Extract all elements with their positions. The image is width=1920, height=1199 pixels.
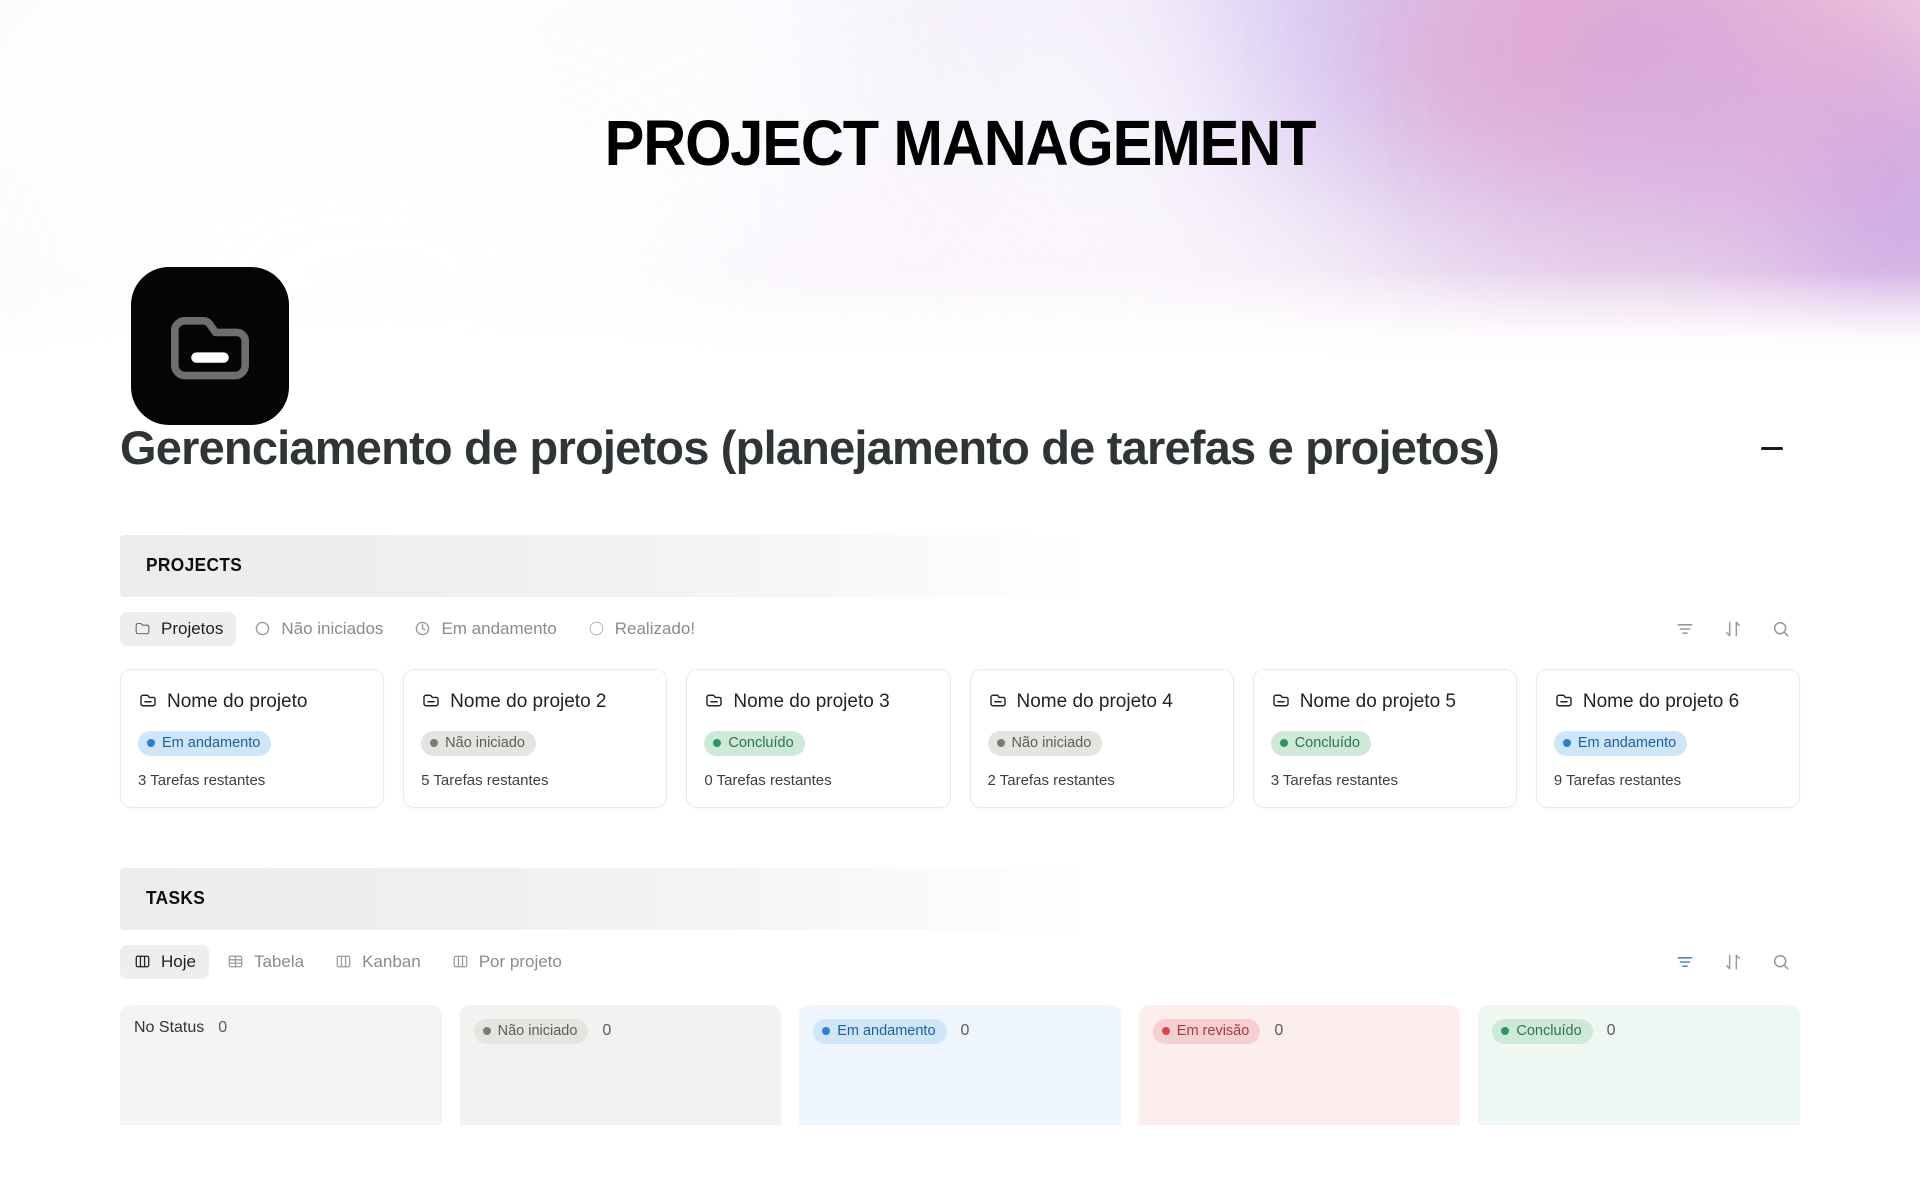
project-card-title: Nome do projeto 5: [1300, 691, 1456, 713]
tab-nao-iniciados[interactable]: Não iniciados: [240, 612, 396, 646]
sort-icon[interactable]: [1722, 951, 1744, 973]
kanban-column-label: Concluído: [1516, 1023, 1581, 1039]
status-dot: [483, 1027, 491, 1035]
project-card[interactable]: Nome do projeto 5Concluído3 Tarefas rest…: [1253, 669, 1517, 808]
kanban-column-label: Não iniciado: [498, 1023, 578, 1039]
status-badge: Não iniciado: [474, 1019, 589, 1044]
project-card-meta: 3 Tarefas restantes: [138, 772, 366, 789]
folder-minus-icon: [421, 690, 441, 715]
table-icon: [226, 952, 245, 971]
tab-label: Em andamento: [441, 619, 556, 639]
kanban-column-head: Concluído0: [1492, 1019, 1786, 1044]
page-title: Gerenciamento de projetos (planejamento …: [120, 422, 1499, 475]
kanban-column-head: Não iniciado0: [474, 1019, 768, 1044]
tab-tabela[interactable]: Tabela: [213, 945, 317, 979]
project-card-head: Nome do projeto: [138, 690, 366, 715]
project-card-title: Nome do projeto 3: [733, 691, 889, 713]
project-card-meta: 0 Tarefas restantes: [704, 772, 932, 789]
tasks-section-label: TASKS: [146, 888, 205, 909]
kanban-column-head: No Status0: [134, 1019, 428, 1037]
kanban-column[interactable]: Em revisão0: [1139, 1005, 1461, 1125]
sort-icon[interactable]: [1722, 618, 1744, 640]
status-dot: [1563, 739, 1571, 747]
tab-label: Kanban: [362, 952, 421, 972]
status-label: Concluído: [728, 735, 793, 751]
project-card-meta: 2 Tarefas restantes: [988, 772, 1216, 789]
status-dot: [1280, 739, 1288, 747]
board-icon: [334, 952, 353, 971]
folder-minus-icon: [1271, 690, 1291, 715]
clock-icon: [413, 619, 432, 638]
project-card[interactable]: Nome do projeto 6Em andamento9 Tarefas r…: [1536, 669, 1800, 808]
page-icon[interactable]: [131, 267, 289, 425]
project-card-head: Nome do projeto 3: [704, 690, 932, 715]
tasks-tabs-row: Hoje Tabela: [120, 939, 1800, 985]
status-dot: [1162, 1027, 1170, 1035]
circle-icon: [253, 619, 272, 638]
project-card-title: Nome do projeto: [167, 691, 307, 713]
status-dot: [713, 739, 721, 747]
project-card[interactable]: Nome do projeto 3Concluído0 Tarefas rest…: [686, 669, 950, 808]
minimize-icon[interactable]: [1758, 434, 1786, 462]
status-dot: [997, 739, 1005, 747]
status-badge: Em andamento: [1554, 731, 1687, 756]
project-card-title: Nome do projeto 6: [1583, 691, 1739, 713]
projects-section-banner: PROJECTS: [120, 535, 1800, 597]
tab-realizado[interactable]: Realizado!: [574, 612, 708, 646]
project-cards: Nome do projetoEm andamento3 Tarefas res…: [120, 669, 1800, 808]
status-label: Não iniciado: [1012, 735, 1092, 751]
tasks-section: TASKS Hoje: [120, 868, 1800, 1125]
check-circle-icon: [587, 619, 606, 638]
project-card-meta: 3 Tarefas restantes: [1271, 772, 1499, 789]
filter-icon[interactable]: [1674, 618, 1696, 640]
search-icon[interactable]: [1770, 951, 1792, 973]
status-badge: Não iniciado: [421, 731, 536, 756]
project-card-meta: 9 Tarefas restantes: [1554, 772, 1782, 789]
projects-section: PROJECTS Projetos: [120, 535, 1800, 808]
board-icon: [451, 952, 470, 971]
projects-toolbar: [1674, 618, 1800, 640]
status-dot: [1501, 1027, 1509, 1035]
kanban-column-label: No Status: [134, 1019, 204, 1037]
status-badge: Em andamento: [138, 731, 271, 756]
kanban-column[interactable]: Concluído0: [1478, 1005, 1800, 1125]
folder-minus-icon: [138, 690, 158, 715]
project-card-title: Nome do projeto 2: [450, 691, 606, 713]
kanban-column-head: Em andamento0: [813, 1019, 1107, 1044]
folder-minus-icon: [704, 690, 724, 715]
kanban-column-label: Em andamento: [837, 1023, 935, 1039]
status-badge: Em andamento: [813, 1019, 946, 1044]
tab-projetos[interactable]: Projetos: [120, 612, 236, 646]
tab-label: Não iniciados: [281, 619, 383, 639]
status-badge: Em revisão: [1153, 1019, 1261, 1044]
kanban-column-count: 0: [961, 1022, 970, 1040]
projects-tabs-row: Projetos Não iniciados: [120, 606, 1800, 652]
tasks-section-banner: TASKS: [120, 868, 1800, 930]
project-card-head: Nome do projeto 5: [1271, 690, 1499, 715]
board-icon: [133, 952, 152, 971]
status-badge: Concluído: [704, 731, 804, 756]
page-body: Gerenciamento de projetos (planejamento …: [0, 422, 1920, 1125]
projects-section-label: PROJECTS: [146, 555, 242, 576]
search-icon[interactable]: [1770, 618, 1792, 640]
tab-por-projeto[interactable]: Por projeto: [438, 945, 575, 979]
status-label: Concluído: [1295, 735, 1360, 751]
kanban-column-label: Em revisão: [1177, 1023, 1250, 1039]
kanban-column[interactable]: No Status0: [120, 1005, 442, 1125]
folder-minus-icon: [988, 690, 1008, 715]
status-dot: [822, 1027, 830, 1035]
project-card[interactable]: Nome do projeto 4Não iniciado2 Tarefas r…: [970, 669, 1234, 808]
project-card[interactable]: Nome do projeto 2Não iniciado5 Tarefas r…: [403, 669, 667, 808]
tab-label: Tabela: [254, 952, 304, 972]
status-dot: [147, 739, 155, 747]
tab-label: Projetos: [161, 619, 223, 639]
tasks-tabs: Hoje Tabela: [120, 945, 575, 979]
kanban-column-count: 0: [218, 1019, 227, 1037]
project-card-head: Nome do projeto 4: [988, 690, 1216, 715]
kanban-column-head: Em revisão0: [1153, 1019, 1447, 1044]
page-content: Gerenciamento de projetos (planejamento …: [0, 422, 1920, 1125]
tab-kanban[interactable]: Kanban: [321, 945, 434, 979]
status-label: Em andamento: [1578, 735, 1676, 751]
page-title-row: Gerenciamento de projetos (planejamento …: [120, 422, 1800, 475]
status-label: Em andamento: [162, 735, 260, 751]
tab-hoje[interactable]: Hoje: [120, 945, 209, 979]
kanban-columns: No Status0Não iniciado0Em andamento0Em r…: [120, 1005, 1800, 1125]
project-card-head: Nome do projeto 6: [1554, 690, 1782, 715]
project-card-meta: 5 Tarefas restantes: [421, 772, 649, 789]
project-card-head: Nome do projeto 2: [421, 690, 649, 715]
status-badge: Concluído: [1492, 1019, 1592, 1044]
cover-title: PROJECT MANAGEMENT: [67, 106, 1853, 180]
tab-em-andamento[interactable]: Em andamento: [400, 612, 569, 646]
tab-label: Hoje: [161, 952, 196, 972]
folder-minus-icon: [162, 296, 258, 397]
kanban-column[interactable]: Em andamento0: [799, 1005, 1121, 1125]
folder-minus-icon: [1554, 690, 1574, 715]
folder-filled-icon: [133, 619, 152, 638]
minimize-dash: [1761, 447, 1783, 450]
kanban-column-count: 0: [602, 1022, 611, 1040]
project-card[interactable]: Nome do projetoEm andamento3 Tarefas res…: [120, 669, 384, 808]
kanban-column[interactable]: Não iniciado0: [460, 1005, 782, 1125]
status-badge: Não iniciado: [988, 731, 1103, 756]
filter-icon[interactable]: [1674, 951, 1696, 973]
projects-tabs: Projetos Não iniciados: [120, 612, 708, 646]
tab-label: Por projeto: [479, 952, 562, 972]
tasks-toolbar: [1674, 951, 1800, 973]
kanban-column-count: 0: [1607, 1022, 1616, 1040]
status-badge: Concluído: [1271, 731, 1371, 756]
status-dot: [430, 739, 438, 747]
kanban-column-count: 0: [1274, 1022, 1283, 1040]
tab-label: Realizado!: [615, 619, 695, 639]
project-card-title: Nome do projeto 4: [1017, 691, 1173, 713]
status-label: Não iniciado: [445, 735, 525, 751]
